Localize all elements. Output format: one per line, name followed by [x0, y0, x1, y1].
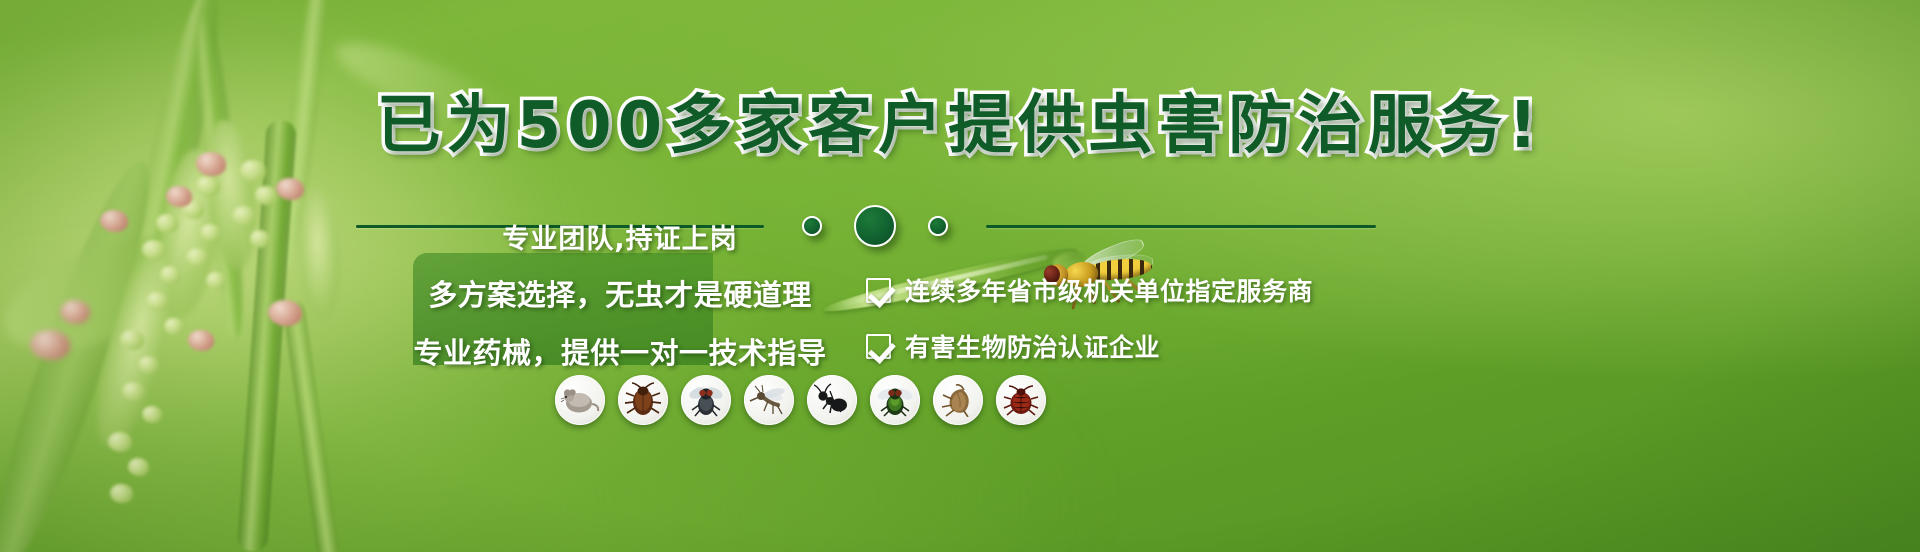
mouse-icon — [555, 375, 605, 425]
list-item: 连续多年省市级机关单位指定服务商 — [866, 272, 1313, 308]
slogan-line-2: 多方案选择，无虫才是硬道理 — [300, 272, 940, 314]
checkbox-checked-icon — [866, 334, 891, 359]
housefly-icon — [681, 375, 731, 425]
list-item: 有害生物防治认证企业 — [866, 328, 1313, 364]
ant-icon — [807, 375, 857, 425]
promo-banner: 已为500多家客户提供虫害防治服务! 专业团队,持证上岗 多方案选择，无虫才是硬… — [0, 0, 1920, 552]
bedbug-icon — [996, 375, 1046, 425]
pest-icon-row — [555, 375, 1046, 425]
credential-text: 连续多年省市级机关单位指定服务商 — [905, 272, 1313, 308]
slogan-list: 专业团队,持证上岗 多方案选择，无虫才是硬道理 专业药械，提供一对一技术指导 — [300, 212, 940, 377]
divider-line-right — [986, 225, 1376, 228]
credentials-list: 连续多年省市级机关单位指定服务商 有害生物防治认证企业 — [866, 272, 1313, 364]
checkbox-checked-icon — [866, 278, 891, 303]
slogan-line-3: 专业药械，提供一对一技术指导 — [300, 330, 940, 372]
credential-text: 有害生物防治认证企业 — [905, 328, 1160, 364]
mosquito-icon — [744, 375, 794, 425]
flea-icon — [933, 375, 983, 425]
greenfly-icon — [870, 375, 920, 425]
slogan-line-1: 专业团队,持证上岗 — [300, 217, 940, 256]
cockroach-icon — [618, 375, 668, 425]
page-title: 已为500多家客户提供虫害防治服务! — [0, 74, 1920, 166]
